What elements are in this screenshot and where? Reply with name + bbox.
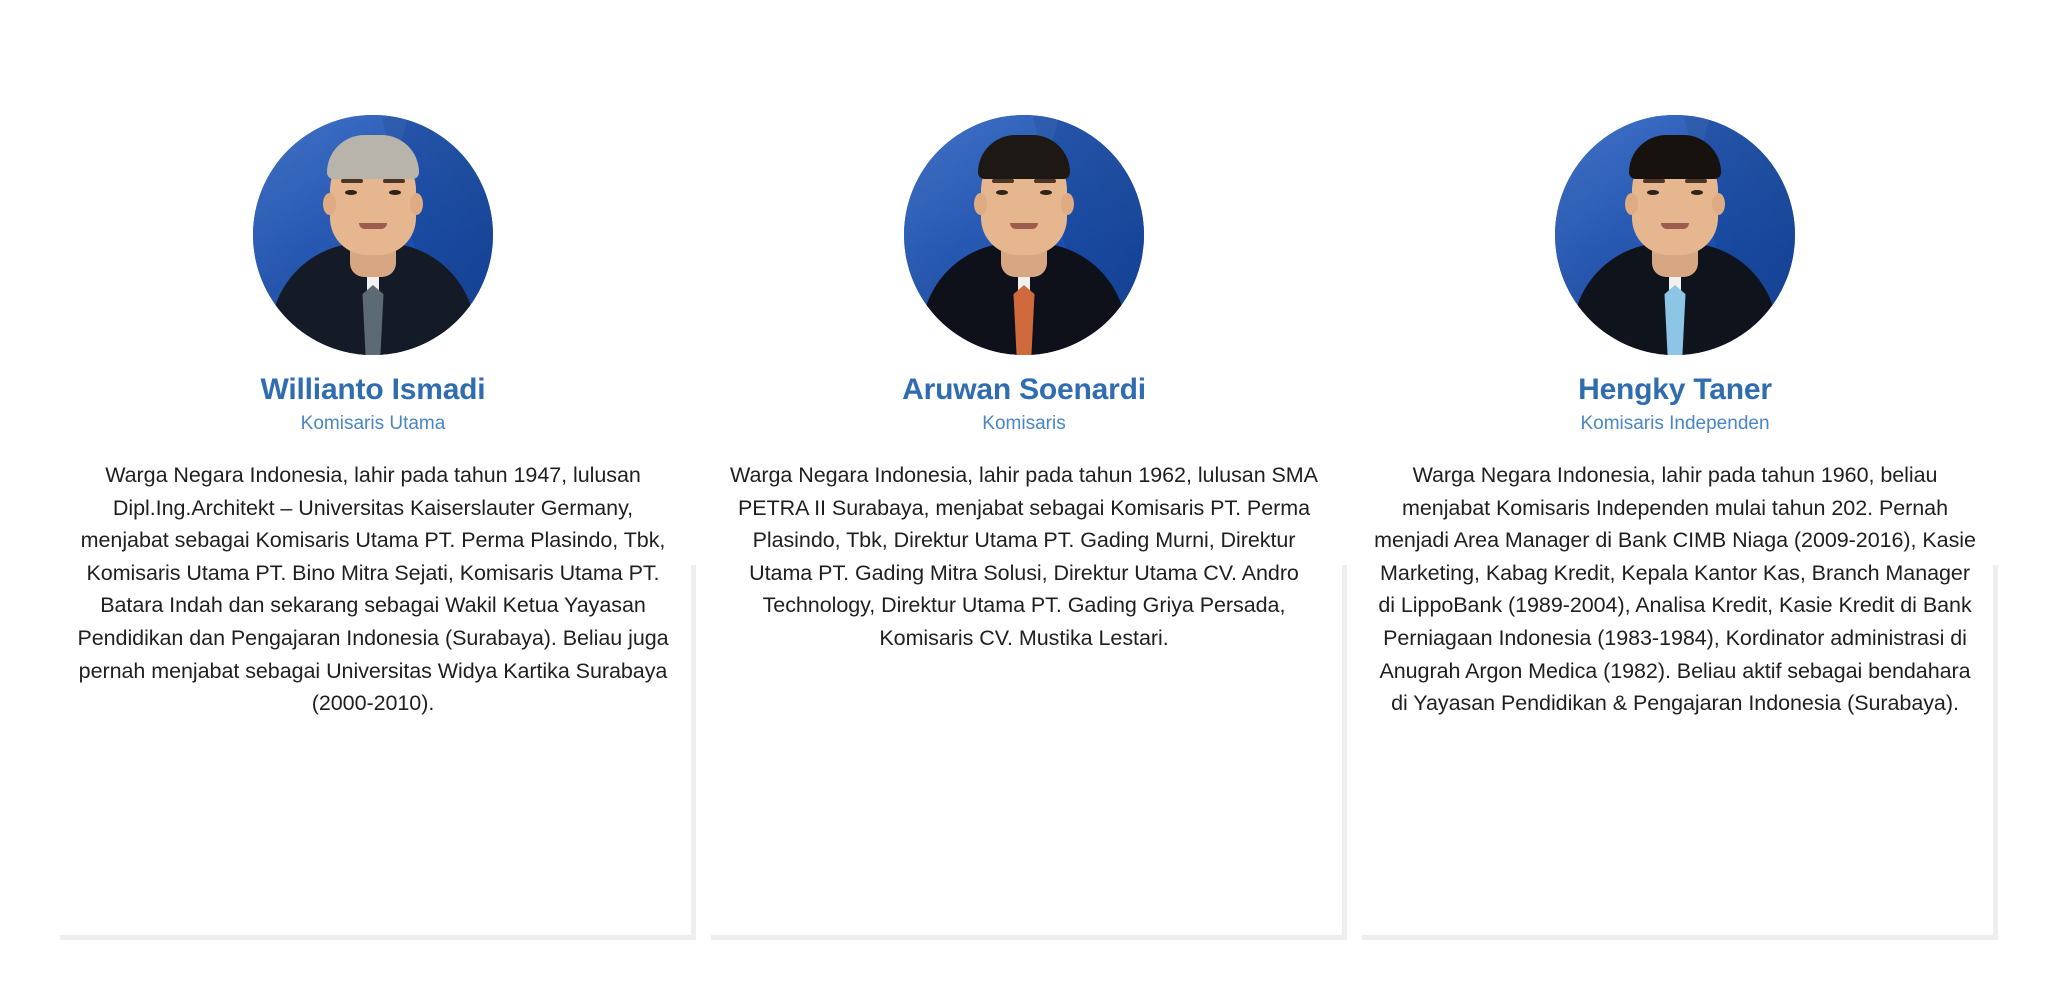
member-name: Hengky Taner [1357,372,1993,407]
portrait-ear-left [1625,193,1638,215]
portrait-mouth [359,223,387,229]
board-member-grid: Willianto Ismadi Komisaris Utama Warga N… [55,0,1993,996]
portrait-ear-right [1712,193,1725,215]
board-of-commissioners-section: Willianto Ismadi Komisaris Utama Warga N… [0,0,2048,996]
portrait-hair [327,135,419,179]
portrait-eye-left [345,190,357,195]
portrait-hair [978,135,1070,179]
member-photo [904,115,1144,355]
portrait-ear-left [323,193,336,215]
portrait-hair [1629,135,1721,179]
portrait-eye-right [1040,190,1052,195]
portrait-brow-right [383,179,405,183]
member-bio: Warga Negara Indonesia, lahir pada tahun… [70,459,676,720]
member-identity: Willianto Ismadi Komisaris Utama [55,372,691,437]
portrait-eye-left [996,190,1008,195]
portrait-eye-left [1647,190,1659,195]
portrait-brow-left [1643,179,1665,183]
portrait-brow-right [1685,179,1707,183]
board-member-card[interactable]: Willianto Ismadi Komisaris Utama Warga N… [55,0,691,720]
member-photo [253,115,493,355]
member-name: Willianto Ismadi [55,372,691,407]
portrait-brow-left [992,179,1014,183]
portrait-necktie [363,285,384,355]
portrait-illustration [904,115,1144,355]
member-photo [1555,115,1795,355]
portrait-ear-right [410,193,423,215]
member-bio: Warga Negara Indonesia, lahir pada tahun… [721,459,1327,655]
portrait-mouth [1661,223,1689,229]
member-name: Aruwan Soenardi [706,372,1342,407]
member-identity: Aruwan Soenardi Komisaris [706,372,1342,437]
portrait-illustration [1555,115,1795,355]
portrait-necktie [1014,285,1035,355]
board-member-card[interactable]: Hengky Taner Komisaris Independen Warga … [1357,0,1993,720]
member-role: Komisaris Independen [1357,412,1993,437]
member-role: Komisaris [706,412,1342,437]
portrait-brow-left [341,179,363,183]
member-bio: Warga Negara Indonesia, lahir pada tahun… [1372,459,1978,720]
portrait-eye-right [389,190,401,195]
member-role: Komisaris Utama [55,412,691,437]
portrait-mouth [1010,223,1038,229]
portrait-brow-right [1034,179,1056,183]
portrait-ear-right [1061,193,1074,215]
portrait-necktie [1665,285,1686,355]
portrait-eye-right [1691,190,1703,195]
board-member-card[interactable]: Aruwan Soenardi Komisaris Warga Negara I… [706,0,1342,655]
member-identity: Hengky Taner Komisaris Independen [1357,372,1993,437]
portrait-illustration [253,115,493,355]
portrait-ear-left [974,193,987,215]
